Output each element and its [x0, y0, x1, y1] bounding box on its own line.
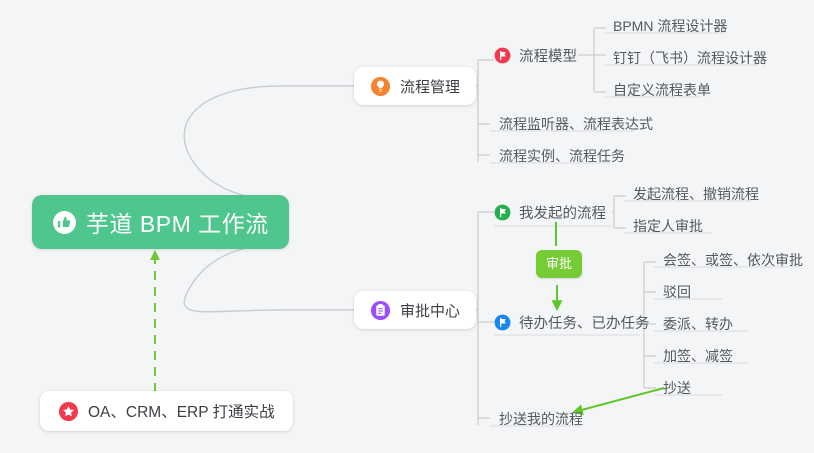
- leaf-label: 钉钉（飞书）流程设计器: [613, 51, 767, 65]
- approval-tag: 审批: [536, 250, 582, 278]
- leaf-bpmn-designer[interactable]: BPMN 流程设计器: [604, 8, 735, 37]
- leaf-label: 流程实例、流程任务: [499, 149, 625, 163]
- leaf-process-listener[interactable]: 流程监听器、流程表达式: [490, 106, 661, 135]
- node-label-todo-done-tasks: 待办任务、已办任务: [519, 312, 650, 333]
- leaf-label: 驳回: [663, 285, 691, 299]
- edge-root-to-approval-center: [184, 244, 354, 312]
- leaf-delegate-transfer[interactable]: 委派、转办: [654, 306, 741, 335]
- root-label: 芋道 BPM 工作流: [86, 205, 269, 239]
- lightbulb-icon: [370, 76, 391, 97]
- leaf-dingtalk-designer[interactable]: 钉钉（飞书）流程设计器: [604, 40, 775, 69]
- flag-icon: [494, 204, 511, 221]
- leaf-label: 流程监听器、流程表达式: [499, 117, 653, 131]
- leaf-label: 抄送我的流程: [499, 412, 583, 426]
- branch-node-process-management[interactable]: 流程管理: [354, 67, 476, 105]
- leaf-assigned-approval[interactable]: 指定人审批: [624, 208, 711, 237]
- leaf-label: 发起流程、撤销流程: [633, 187, 759, 201]
- leaf-add-remove-sign[interactable]: 加签、减签: [654, 338, 741, 367]
- flag-icon: [494, 47, 511, 64]
- star-icon: [58, 401, 79, 422]
- thumbs-up-icon: [52, 210, 77, 235]
- mindmap-canvas: 芋道 BPM 工作流 OA、CRM、ERP 打通实战 流程管理 流程模型 BPM…: [0, 0, 814, 453]
- leaf-cc-to-me-processes[interactable]: 抄送我的流程: [490, 401, 591, 430]
- leaf-carbon-copy[interactable]: 抄送: [654, 370, 699, 399]
- leaf-custom-form[interactable]: 自定义流程表单: [604, 72, 719, 101]
- leaf-label: BPMN 流程设计器: [613, 19, 727, 33]
- branch-node-approval-center[interactable]: 审批中心: [354, 291, 476, 329]
- node-process-model[interactable]: 流程模型: [494, 41, 577, 69]
- leaf-label: 委派、转办: [663, 317, 733, 331]
- edge-root-to-process-management: [184, 86, 354, 200]
- leaf-reject[interactable]: 驳回: [654, 274, 699, 303]
- root-node[interactable]: 芋道 BPM 工作流: [32, 195, 289, 249]
- node-label-process-model: 流程模型: [519, 45, 577, 66]
- footnote-node[interactable]: OA、CRM、ERP 打通实战: [40, 391, 293, 431]
- clipboard-icon: [370, 300, 391, 321]
- leaf-label: 自定义流程表单: [613, 83, 711, 97]
- approval-tag-label: 审批: [546, 256, 572, 271]
- node-my-started-processes[interactable]: 我发起的流程: [494, 198, 606, 226]
- leaf-label: 指定人审批: [633, 219, 703, 233]
- node-label-my-started-processes: 我发起的流程: [519, 202, 606, 223]
- footnote-label: OA、CRM、ERP 打通实战: [88, 400, 275, 422]
- node-todo-done-tasks[interactable]: 待办任务、已办任务: [494, 308, 650, 336]
- branch-label-approval-center: 审批中心: [400, 300, 460, 321]
- flag-icon: [494, 314, 511, 331]
- branch-label-process-management: 流程管理: [400, 76, 460, 97]
- leaf-start-cancel-process[interactable]: 发起流程、撤销流程: [624, 176, 767, 205]
- leaf-label: 抄送: [663, 381, 691, 395]
- leaf-countersign[interactable]: 会签、或签、依次审批: [654, 242, 811, 271]
- leaf-process-instance[interactable]: 流程实例、流程任务: [490, 138, 633, 167]
- leaf-label: 加签、减签: [663, 349, 733, 363]
- leaf-label: 会签、或签、依次审批: [663, 253, 803, 267]
